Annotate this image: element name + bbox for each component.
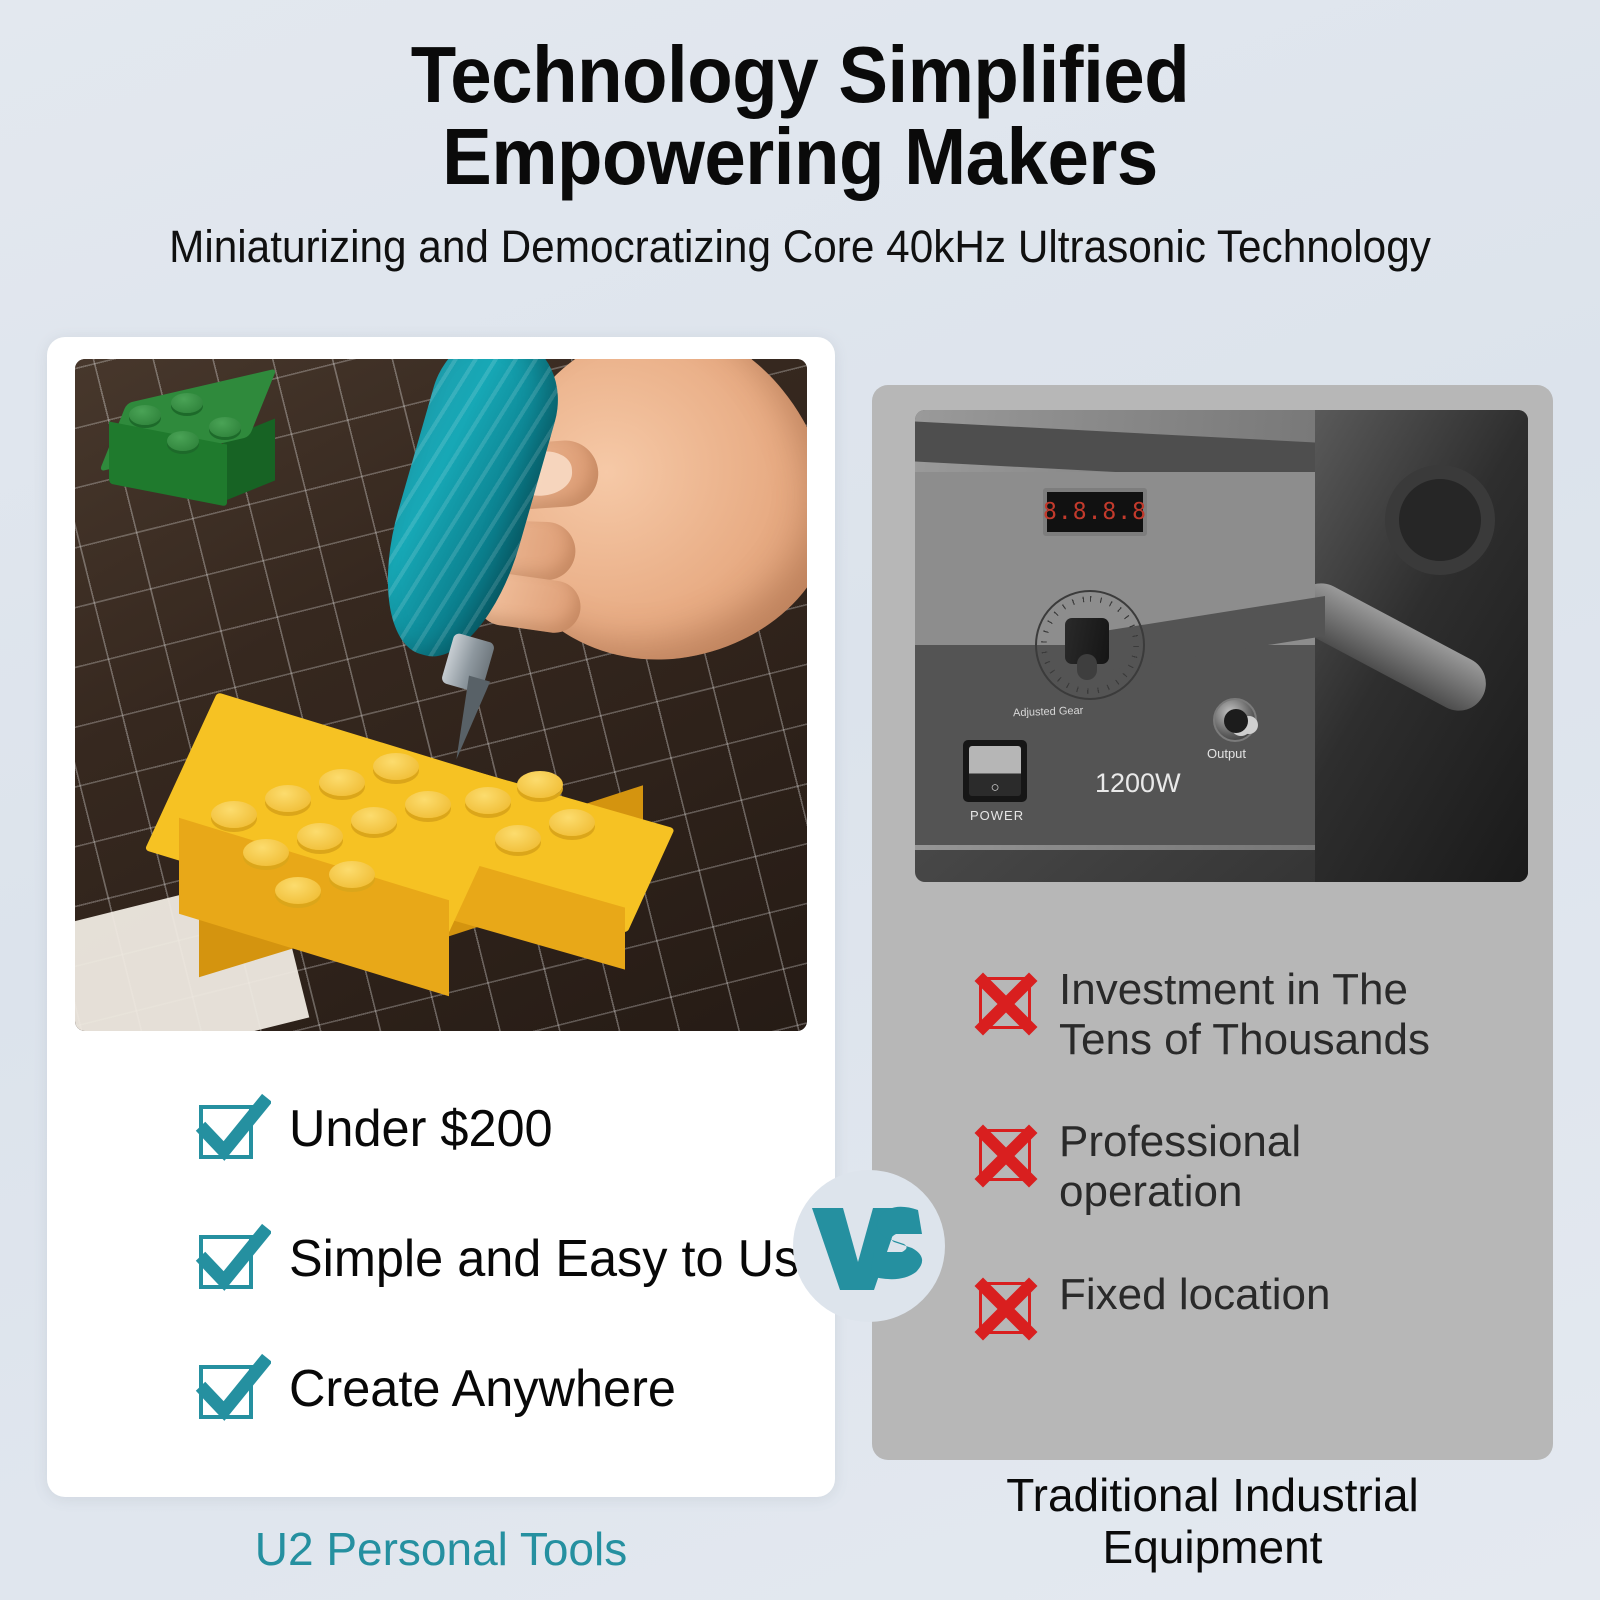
title-line-1: Technology Simplified [411,30,1189,119]
left-feature-list: Under $200 Simple and Easy to Use [197,1097,837,1487]
list-item: Fixed location [977,1270,1547,1336]
list-item-label: Simple and Easy to Use [289,1229,827,1289]
left-product-photo [75,359,807,1031]
right-drawback-list: Investment in The Tens of Thousands Prof… [977,965,1547,1388]
check-icon [197,1357,261,1421]
digital-display: 8.8.8.8 [1043,488,1147,536]
check-icon [197,1097,261,1161]
list-item-label: Fixed location [1059,1270,1330,1320]
page-header: Technology Simplified Empowering Makers … [0,0,1600,273]
cross-glyph [973,1121,1043,1191]
right-product-card: 8.8.8.8 Adjusted Gear ○ POWER 1200W Outp… [872,385,1553,1460]
list-item: Professional operation [977,1117,1547,1217]
cross-icon [977,1123,1037,1183]
output-socket [1213,698,1257,742]
page-title: Technology Simplified Empowering Makers [56,34,1544,197]
green-brick-graphic [105,389,280,509]
generator-side-graphic [1315,410,1528,882]
page-subtitle: Miniaturizing and Democratizing Core 40k… [48,221,1552,273]
vs-badge [793,1170,945,1322]
wattage-label: 1200W [1095,768,1181,799]
list-item: Simple and Easy to Use [197,1227,837,1291]
comparison-section: Under $200 Simple and Easy to Use [0,337,1600,1600]
cross-glyph [973,1274,1043,1344]
cross-icon [977,971,1037,1031]
list-item-label: Under $200 [289,1099,553,1159]
power-symbol: ○ [990,779,999,796]
coil-ring-graphic [1385,465,1495,575]
cross-glyph [973,969,1043,1039]
list-item: Create Anywhere [197,1357,837,1421]
list-item: Under $200 [197,1097,837,1161]
check-glyph [195,1091,271,1167]
right-caption-line-2: Equipment [872,1522,1553,1574]
left-product-card: Under $200 Simple and Easy to Use [47,337,835,1497]
left-caption: U2 Personal Tools [47,1522,835,1576]
power-switch[interactable]: ○ [963,740,1027,802]
list-item-label: Create Anywhere [289,1359,676,1419]
list-item-label-line-1: Fixed location [1059,1270,1330,1320]
yellow-brick-graphic [165,669,725,959]
list-item-label-line-2: Tens of Thousands [1059,1015,1430,1065]
handpiece-graphic [1285,574,1496,720]
right-product-photo: 8.8.8.8 Adjusted Gear ○ POWER 1200W Outp… [915,410,1528,882]
list-item-label: Professional operation [1059,1117,1301,1217]
gear-knob[interactable] [1035,590,1145,700]
check-icon [197,1227,261,1291]
list-item-label-line-2: operation [1059,1167,1301,1217]
generator-front-panel: 8.8.8.8 Adjusted Gear ○ POWER 1200W Outp… [915,410,1315,850]
title-line-2: Empowering Makers [56,116,1544,198]
list-item-label-line-1: Investment in The [1059,965,1430,1015]
list-item-label-line-1: Professional [1059,1117,1301,1167]
output-label: Output [1207,746,1246,761]
display-value: 8.8.8.8 [1043,499,1147,525]
list-item: Investment in The Tens of Thousands [977,965,1547,1065]
list-item-label: Investment in The Tens of Thousands [1059,965,1430,1065]
right-caption-line-1: Traditional Industrial [872,1470,1553,1522]
power-label: POWER [970,808,1024,823]
vs-glyph [810,1198,928,1294]
gear-knob-label: Adjusted Gear [1013,705,1084,719]
right-caption: Traditional Industrial Equipment [872,1470,1553,1573]
cross-icon [977,1276,1037,1336]
check-glyph [195,1221,271,1297]
check-glyph [195,1351,271,1427]
